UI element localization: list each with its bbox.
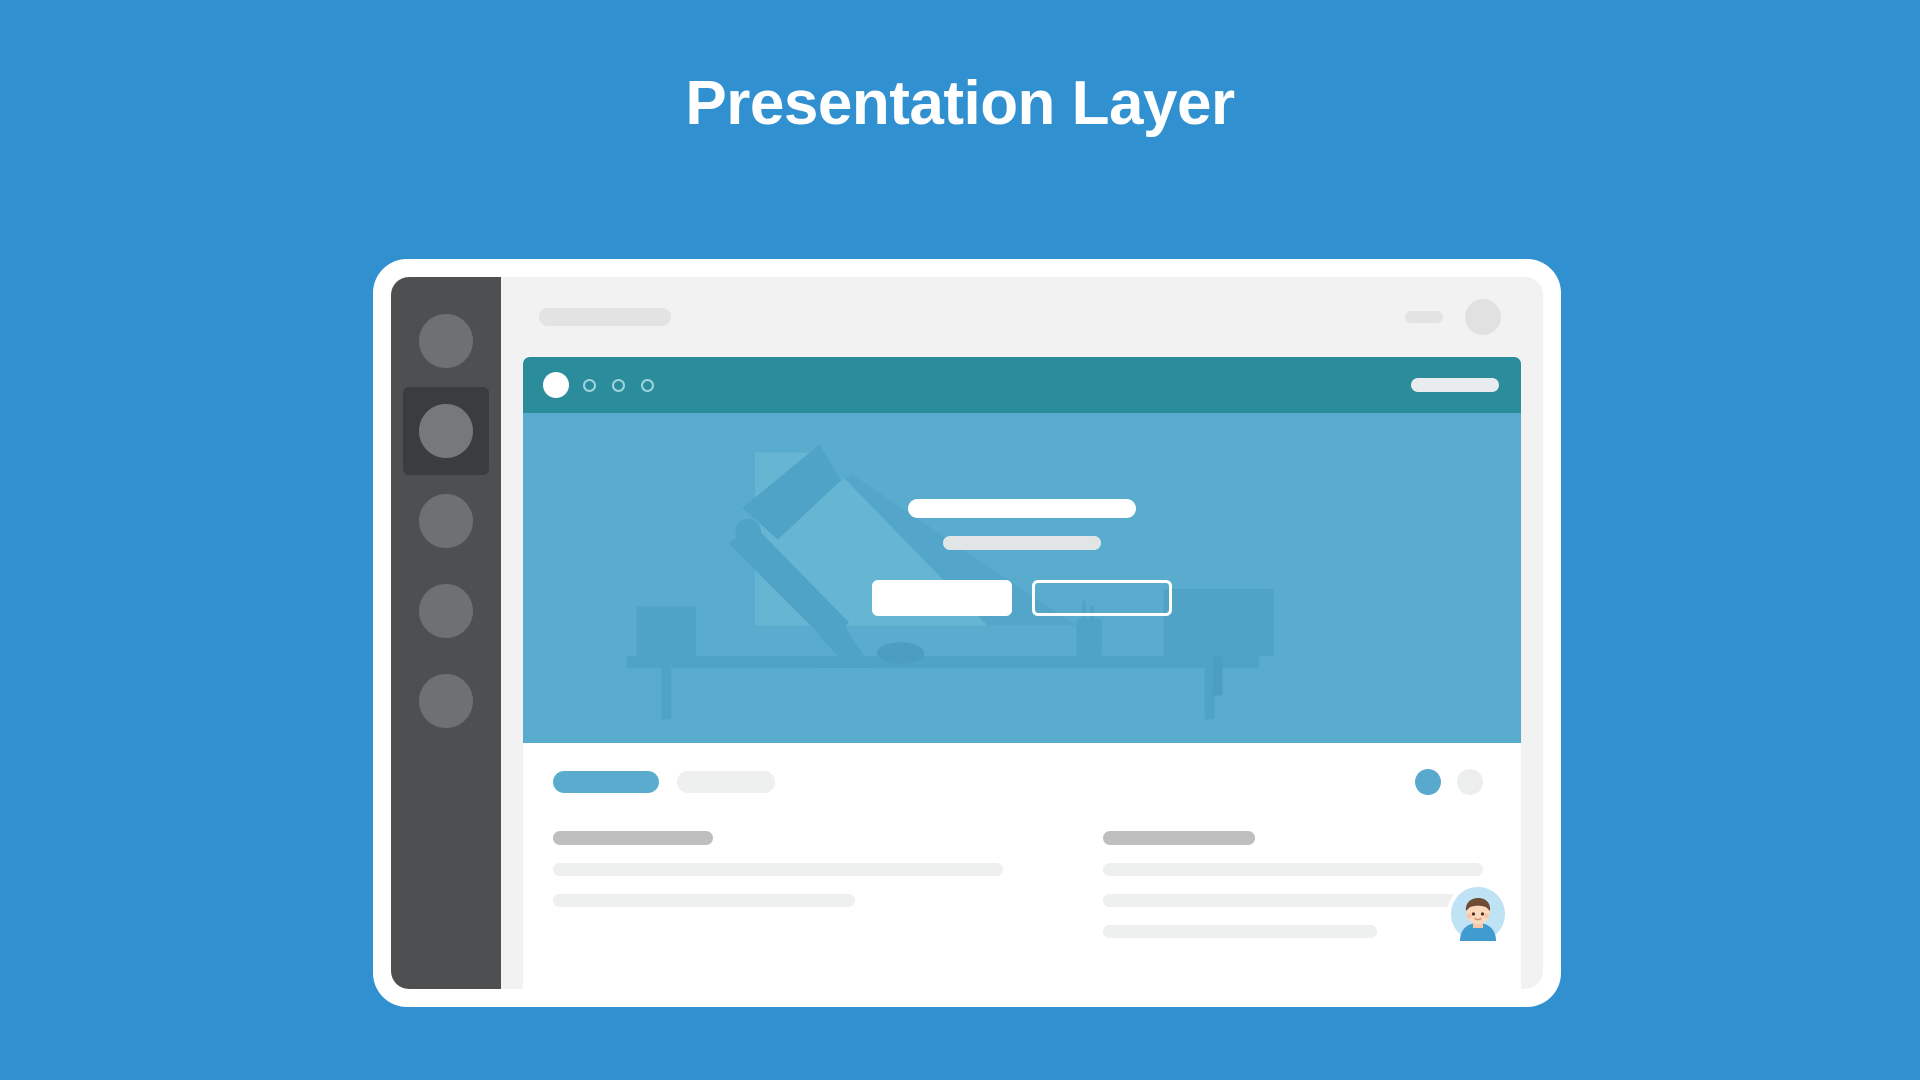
device-frame [373,259,1561,1007]
tabs-row [553,769,1483,795]
support-agent-avatar-icon[interactable] [1447,883,1509,945]
hero-buttons [872,580,1172,616]
app-header-actions [1405,299,1501,335]
circle-icon [419,314,473,368]
hero-copy [523,499,1521,616]
sidebar-item-4[interactable] [403,567,489,655]
right-text-line [1103,925,1377,938]
tab-secondary[interactable] [677,771,775,793]
device-screen [391,277,1543,989]
hero-headline-placeholder [908,499,1136,518]
right-text-line [1103,894,1483,907]
browser-window [523,357,1521,989]
app-header [501,277,1543,357]
circle-outline-icon[interactable] [641,379,654,392]
hero-section [523,413,1521,743]
left-text-line [553,863,1003,876]
sidebar-item-2[interactable] [403,387,489,475]
avatar-illustration [1451,887,1505,941]
circle-icon [419,584,473,638]
circle-outline-icon[interactable] [583,379,596,392]
content-column-right [1103,831,1483,938]
pager [1415,769,1483,795]
page-title: Presentation Layer [0,70,1920,138]
circle-icon [419,674,473,728]
content-columns [553,831,1483,938]
header-label-placeholder[interactable] [1405,311,1443,323]
app-logo-placeholder [539,308,671,326]
hero-primary-button[interactable] [872,580,1012,616]
search-input[interactable] [1411,378,1499,392]
right-heading-placeholder [1103,831,1255,845]
hero-subheadline-placeholder [943,536,1101,550]
left-heading-placeholder [553,831,713,845]
app-main-area [501,277,1543,989]
browser-toolbar [523,357,1521,413]
circle-filled-icon[interactable] [543,372,569,398]
pager-dot-1[interactable] [1415,769,1441,795]
content-section [523,743,1521,989]
right-text-line [1103,863,1483,876]
circle-icon [419,494,473,548]
left-text-line [553,894,855,907]
circle-icon [419,404,473,458]
sidebar-item-1[interactable] [403,297,489,385]
sidebar-item-3[interactable] [403,477,489,565]
pager-dot-2[interactable] [1457,769,1483,795]
user-avatar-icon[interactable] [1465,299,1501,335]
content-column-left [553,831,1003,938]
hero-secondary-button[interactable] [1032,580,1172,616]
sidebar-item-5[interactable] [403,657,489,745]
circle-outline-icon[interactable] [612,379,625,392]
app-sidebar [391,277,501,989]
tab-primary[interactable] [553,771,659,793]
